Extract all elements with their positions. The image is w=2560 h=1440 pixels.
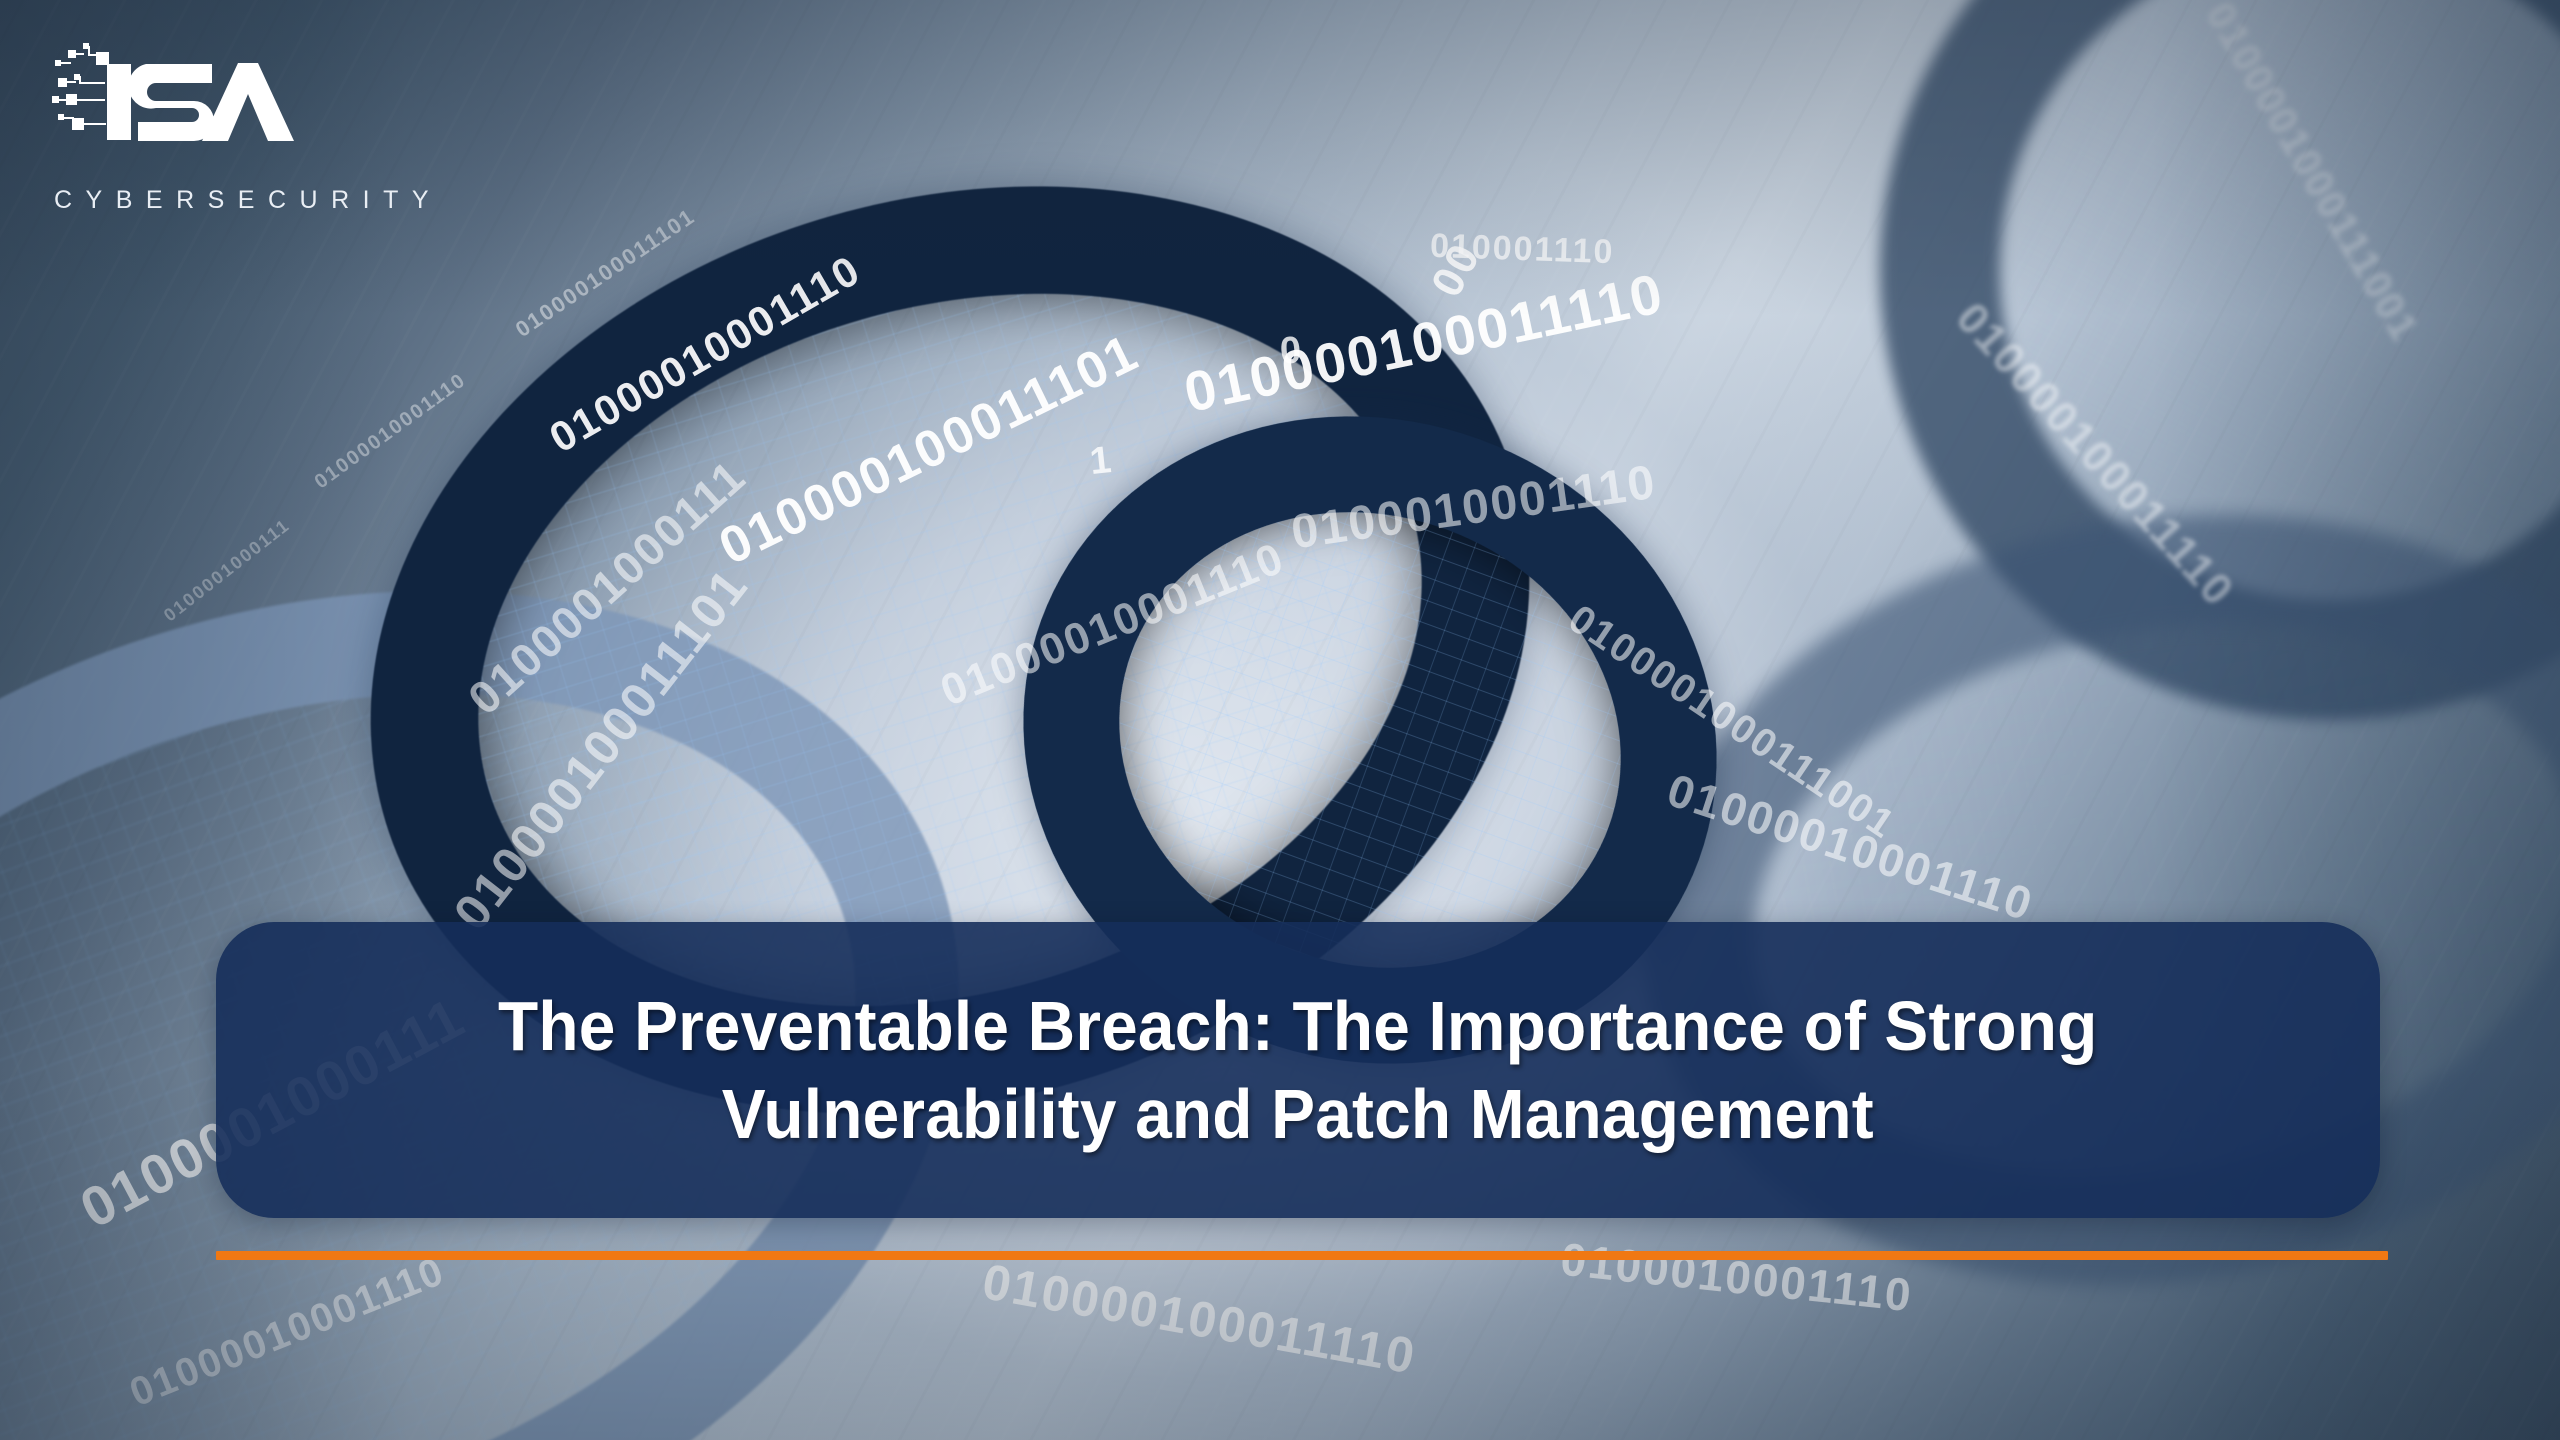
photo-vignette — [0, 0, 2560, 1440]
logo[interactable]: CYBERSECURITY — [52, 38, 472, 215]
background-photo: 01000010001110 010000100011101 010000100… — [0, 0, 2560, 1440]
banner-image: 01000010001110 010000100011101 010000100… — [0, 0, 2560, 1440]
logo-tagline: CYBERSECURITY — [52, 186, 472, 215]
isa-logo-icon — [52, 38, 352, 170]
accent-rule — [216, 1251, 2388, 1260]
page-title-line-2: Vulnerability and Patch Management — [722, 1075, 1874, 1153]
page-title-line-1: The Preventable Breach: The Importance o… — [498, 987, 2098, 1065]
page-title: The Preventable Breach: The Importance o… — [442, 982, 2154, 1158]
title-banner: The Preventable Breach: The Importance o… — [216, 922, 2380, 1218]
